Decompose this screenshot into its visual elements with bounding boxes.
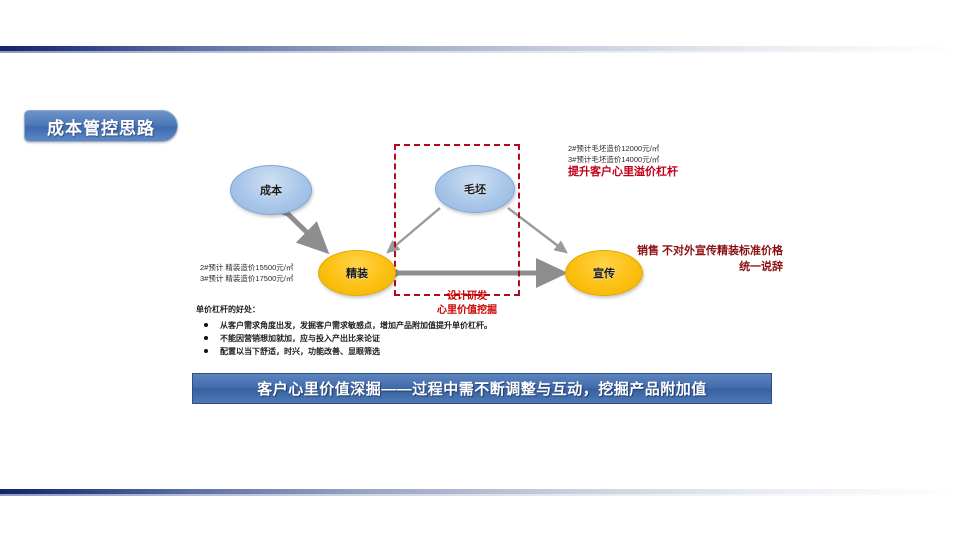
annotation-top-right-line2: 3#预计毛坯造价14000元/㎡ xyxy=(568,154,678,165)
node-maopi-label: 毛坯 xyxy=(464,181,486,197)
annotation-center-line1: 设计研发 xyxy=(437,290,497,304)
list-item: 配置以当下舒适，时兴，功能改善、显眼筛选 xyxy=(196,345,616,358)
annotation-right: 销售 不对外宣传精装标准价格 统一说辞 xyxy=(637,243,783,275)
node-jingzhuang[interactable]: 精装 xyxy=(318,250,396,296)
list-item-text: 从客户需求角度出发，发掘客户需求敏感点，增加产品附加值提升单价杠杆。 xyxy=(220,321,492,330)
benefits-list-items: 从客户需求角度出发，发掘客户需求敏感点，增加产品附加值提升单价杠杆。 不能因营销… xyxy=(196,319,616,358)
list-item-text: 不能因营销想加就加，应与投入产出比来论证 xyxy=(220,334,380,343)
benefits-list-heading: 单价杠杆的好处： xyxy=(196,303,616,316)
bullet-dot-icon xyxy=(204,323,208,327)
node-chengben[interactable]: 成本 xyxy=(230,165,312,215)
slide-canvas: 成本管控思路 成本 毛坯 xyxy=(0,0,960,540)
annotation-top-right-line1: 2#预计毛坯造价12000元/㎡ xyxy=(568,143,678,154)
relationship-diagram: 成本 毛坯 精装 宣传 2#预计毛坯造价12000元/㎡ 3#预计毛坯造价140… xyxy=(0,0,960,540)
annotation-top-right-highlight: 提升客户心里溢价杠杆 xyxy=(568,165,678,180)
connector-chengben-jingzhuang xyxy=(288,214,325,250)
list-item: 从客户需求角度出发，发掘客户需求敏感点，增加产品附加值提升单价杠杆。 xyxy=(196,319,616,332)
annotation-top-right: 2#预计毛坯造价12000元/㎡ 3#预计毛坯造价14000元/㎡ 提升客户心里… xyxy=(568,143,678,180)
bottom-divider-hairline xyxy=(0,494,960,496)
annotation-left-line1: 2#预计 精装造价15500元/㎡ xyxy=(200,262,293,273)
annotation-left: 2#预计 精装造价15500元/㎡ 3#预计 精装造价17500元/㎡ xyxy=(200,262,293,284)
bullet-dot-icon xyxy=(204,349,208,353)
annotation-right-line2: 统一说辞 xyxy=(637,259,783,275)
annotation-left-line2: 3#预计 精装造价17500元/㎡ xyxy=(200,273,293,284)
bullet-dot-icon xyxy=(204,336,208,340)
list-item-text: 配置以当下舒适，时兴，功能改善、显眼筛选 xyxy=(220,347,380,356)
node-xuanchuan[interactable]: 宣传 xyxy=(565,250,643,296)
node-jingzhuang-label: 精装 xyxy=(346,265,368,281)
benefits-list: 单价杠杆的好处： 从客户需求角度出发，发掘客户需求敏感点，增加产品附加值提升单价… xyxy=(196,303,616,358)
annotation-right-line1: 销售 不对外宣传精装标准价格 xyxy=(637,243,783,259)
node-chengben-label: 成本 xyxy=(260,182,282,198)
summary-banner: 客户心里价值深掘——过程中需不断调整与互动，挖掘产品附加值 xyxy=(192,373,772,404)
node-xuanchuan-label: 宣传 xyxy=(593,265,615,281)
node-maopi[interactable]: 毛坯 xyxy=(435,165,515,213)
summary-banner-label: 客户心里价值深掘——过程中需不断调整与互动，挖掘产品附加值 xyxy=(257,378,707,399)
list-item: 不能因营销想加就加，应与投入产出比来论证 xyxy=(196,332,616,345)
